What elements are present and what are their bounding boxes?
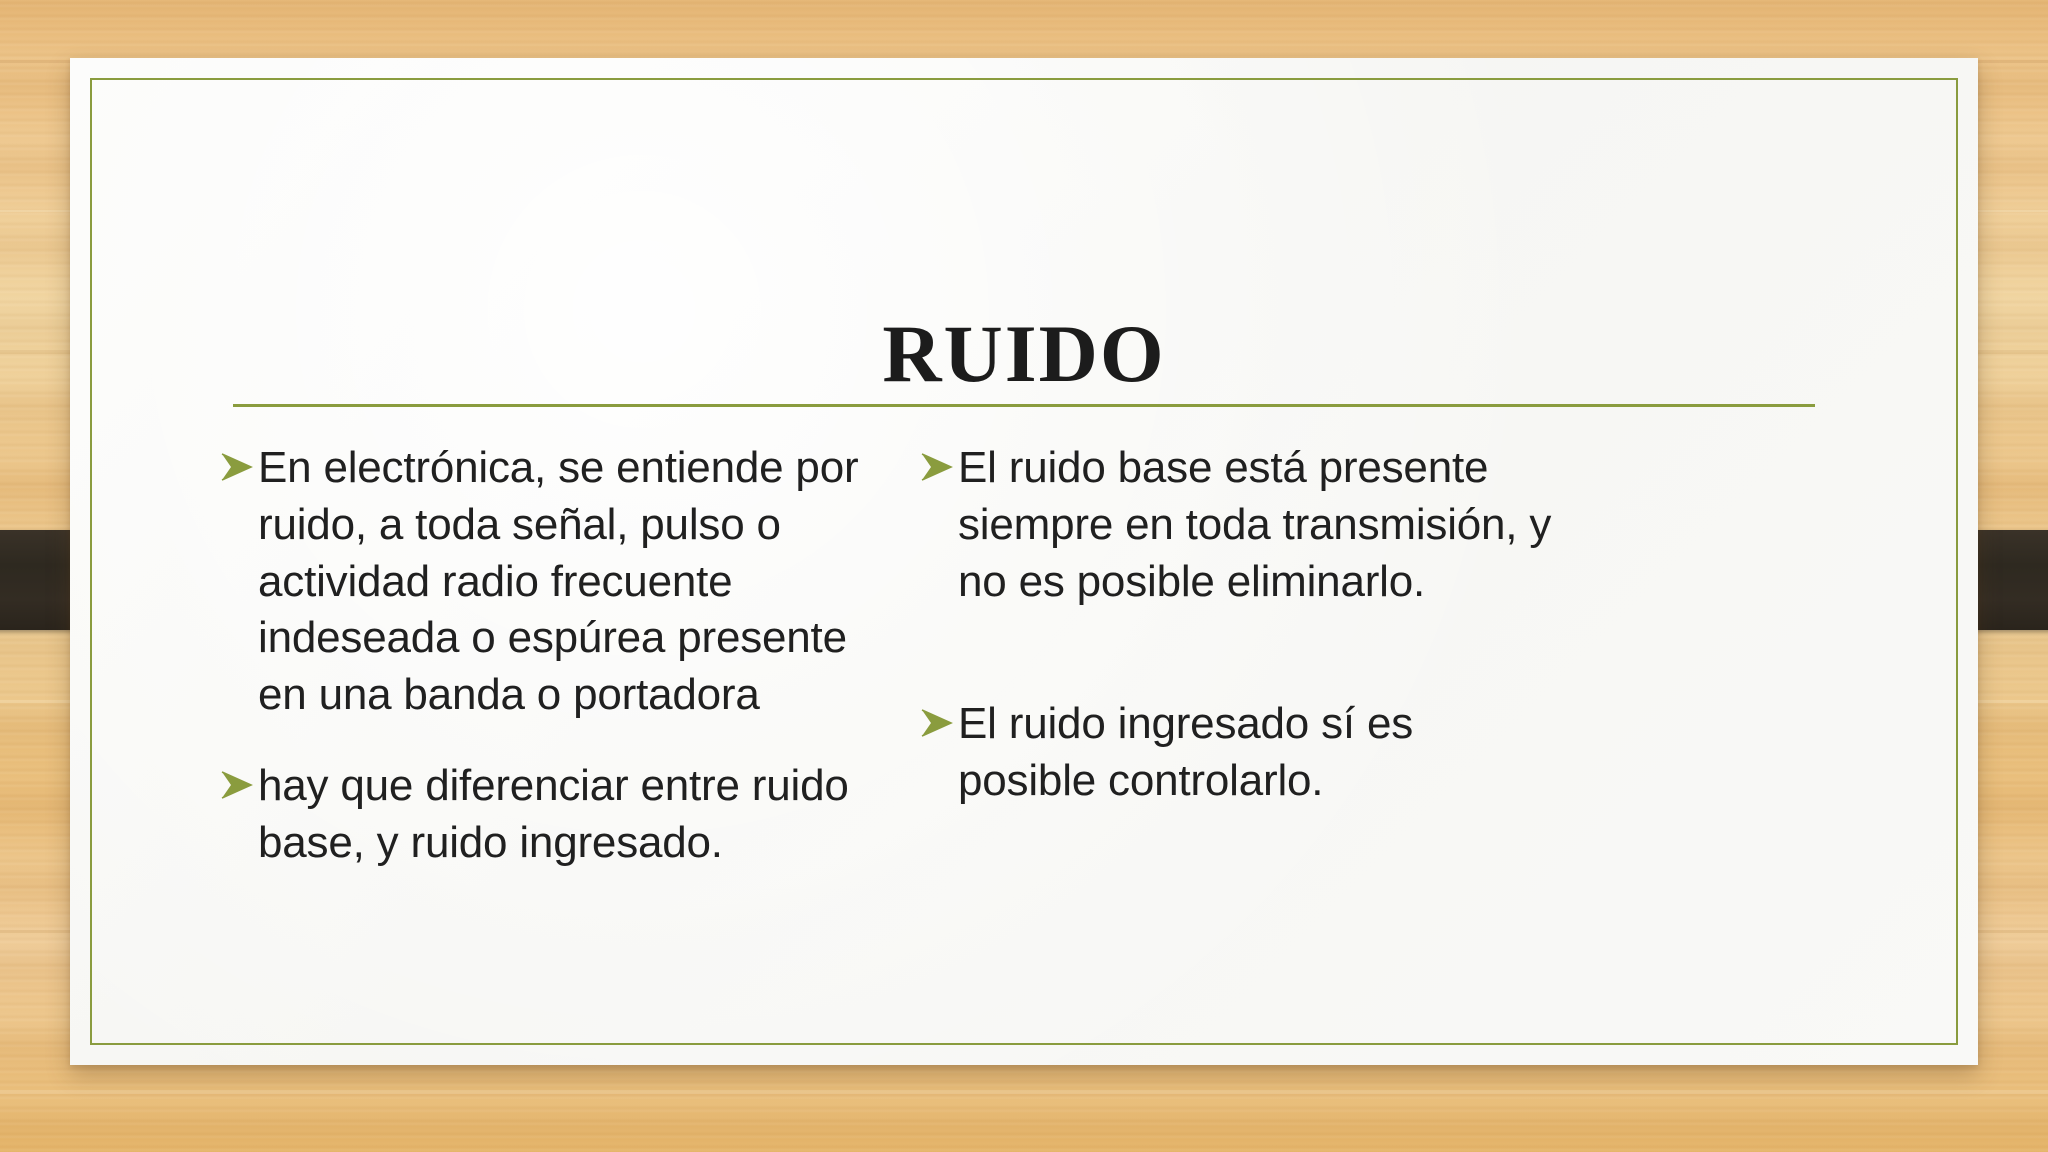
list-item-text: hay que diferenciar entre ruido base, y …: [258, 758, 860, 872]
slide-title: RUIDO: [70, 313, 1978, 395]
arrow-bullet-icon: [920, 452, 958, 482]
list-item: hay que diferenciar entre ruido base, y …: [220, 758, 860, 872]
list-item-text: El ruido base está presente siempre en t…: [958, 440, 1560, 610]
slide-card: RUIDO En electrónica, se entiende por ru…: [70, 58, 1978, 1065]
body-column-left: En electrónica, se entiende por ruido, a…: [220, 440, 860, 905]
title-divider: [233, 404, 1815, 407]
arrow-bullet-icon: [920, 708, 958, 738]
list-item-text: El ruido ingresado sí es posible control…: [958, 696, 1560, 810]
slide-body: En electrónica, se entiende por ruido, a…: [220, 440, 1840, 905]
arrow-bullet-icon: [220, 770, 258, 800]
list-item: El ruido ingresado sí es posible control…: [920, 696, 1560, 810]
body-column-right: El ruido base está presente siempre en t…: [920, 440, 1560, 905]
wood-grain-streak: [0, 1090, 2048, 1094]
list-item: En electrónica, se entiende por ruido, a…: [220, 440, 860, 724]
list-item: El ruido base está presente siempre en t…: [920, 440, 1560, 610]
slide-background: RUIDO En electrónica, se entiende por ru…: [0, 0, 2048, 1152]
list-item-text: En electrónica, se entiende por ruido, a…: [258, 440, 860, 724]
arrow-bullet-icon: [220, 452, 258, 482]
